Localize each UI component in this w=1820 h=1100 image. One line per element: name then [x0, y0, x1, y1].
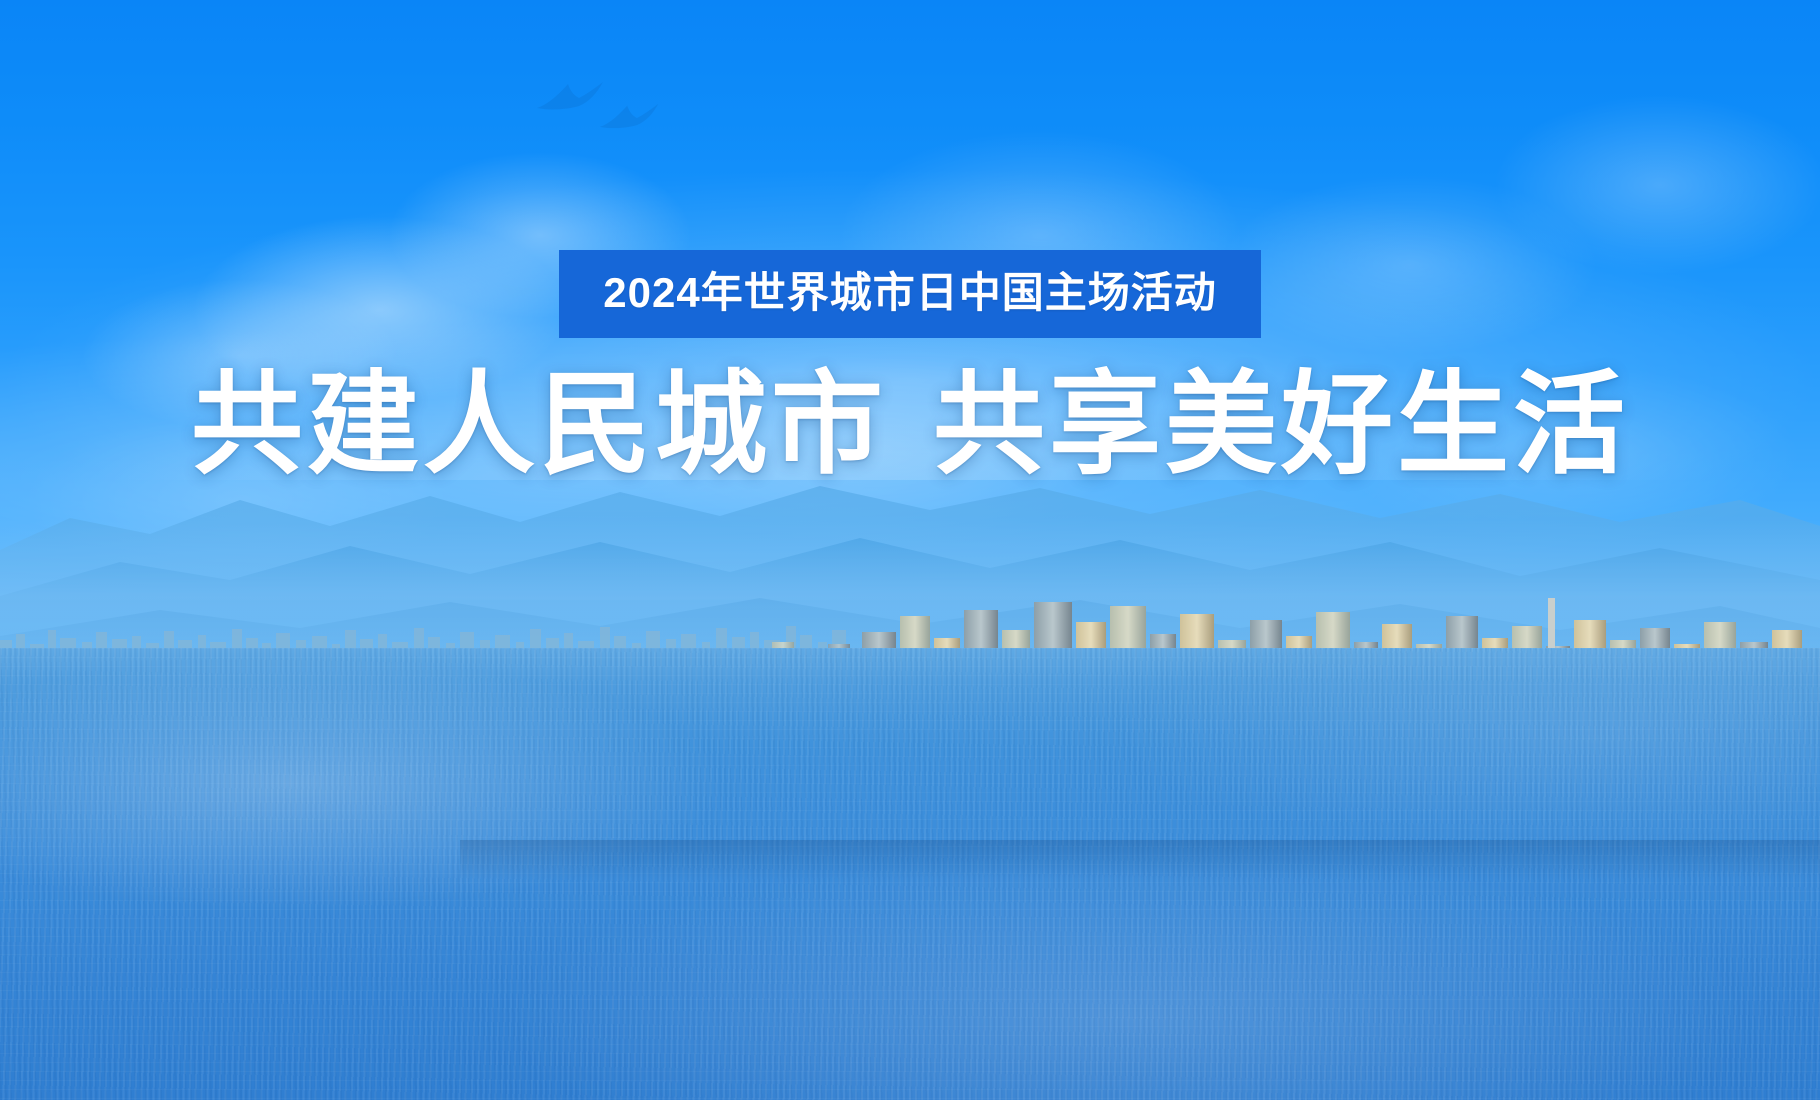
poster-banner: 2024年世界城市日中国主场活动 共建人民城市共享美好生活: [0, 0, 1820, 1100]
seagull-icon: [535, 78, 605, 118]
subtitle-row: 2024年世界城市日中国主场活动: [0, 250, 1820, 338]
banner-text-block: 2024年世界城市日中国主场活动 共建人民城市共享美好生活: [0, 250, 1820, 485]
event-main-title: 共建人民城市共享美好生活: [0, 366, 1820, 485]
seagull-icon: [598, 100, 660, 136]
event-subtitle: 2024年世界城市日中国主场活动: [559, 250, 1260, 338]
main-title-part-2: 共享美好生活: [933, 362, 1629, 487]
water-glare: [0, 648, 1820, 1100]
main-title-part-1: 共建人民城市: [191, 362, 887, 487]
sea-water: [0, 648, 1820, 1100]
